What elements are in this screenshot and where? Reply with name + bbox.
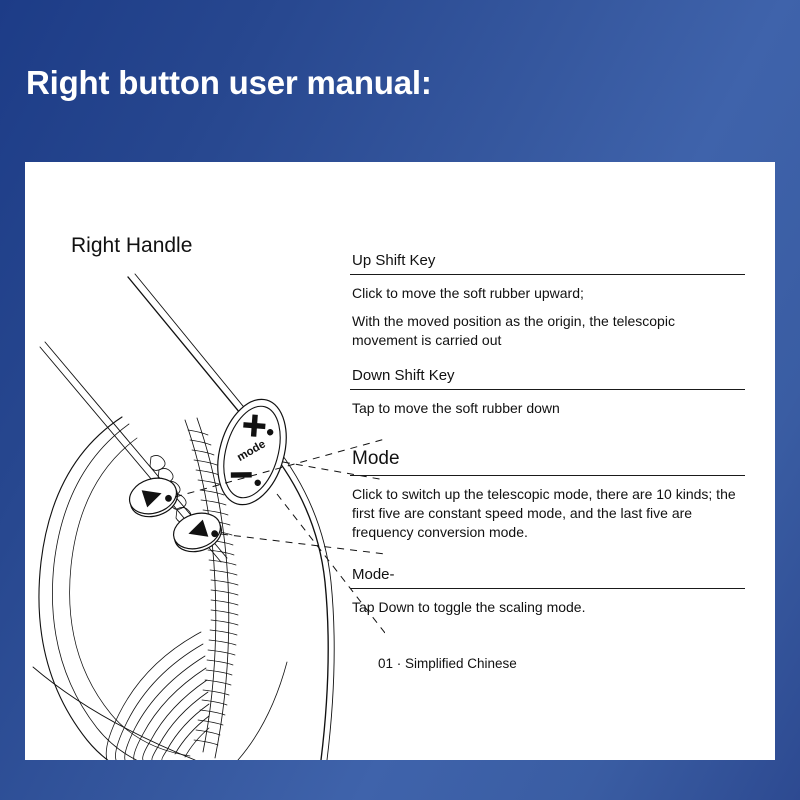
spec-line: Click to move the soft rubber upward; [350,284,744,303]
spec-block-up-shift: Up Shift Key Click to move the soft rubb… [350,252,770,350]
spec-heading: Down Shift Key [350,367,770,384]
up-shift-button [125,472,182,522]
spec-divider [350,588,745,589]
footnote: 01 · Simplified Chinese [378,656,517,671]
content-panel: mode Right Handle Up Shift Key [25,162,775,760]
manual-page: Right button user manual: [0,0,800,800]
spec-list: Up Shift Key Click to move the soft rubb… [350,162,775,760]
spec-divider [350,475,745,476]
spec-line: With the moved position as the origin, t… [350,312,744,350]
spec-divider [350,274,745,275]
down-shift-button [169,507,226,557]
spec-divider [350,389,745,390]
device-illustration: mode Right Handle [25,162,385,760]
spec-line: Click to switch up the telescopic mode, … [350,485,744,542]
spec-block-mode-minus: Mode- Tap Down to toggle the scaling mod… [350,566,770,617]
spec-heading: Mode [350,448,770,470]
spec-block-mode: Mode Click to switch up the telescopic m… [350,448,770,542]
spec-heading: Up Shift Key [350,252,770,269]
spec-block-down-shift: Down Shift Key Tap to move the soft rubb… [350,367,770,418]
page-title: Right button user manual: [26,64,432,102]
spec-heading: Mode- [350,566,770,583]
spec-line: Tap to move the soft rubber down [350,399,744,418]
spec-line: Tap Down to toggle the scaling mode. [350,598,744,617]
mode-button: mode [206,391,297,512]
right-handle-label: Right Handle [71,234,192,258]
